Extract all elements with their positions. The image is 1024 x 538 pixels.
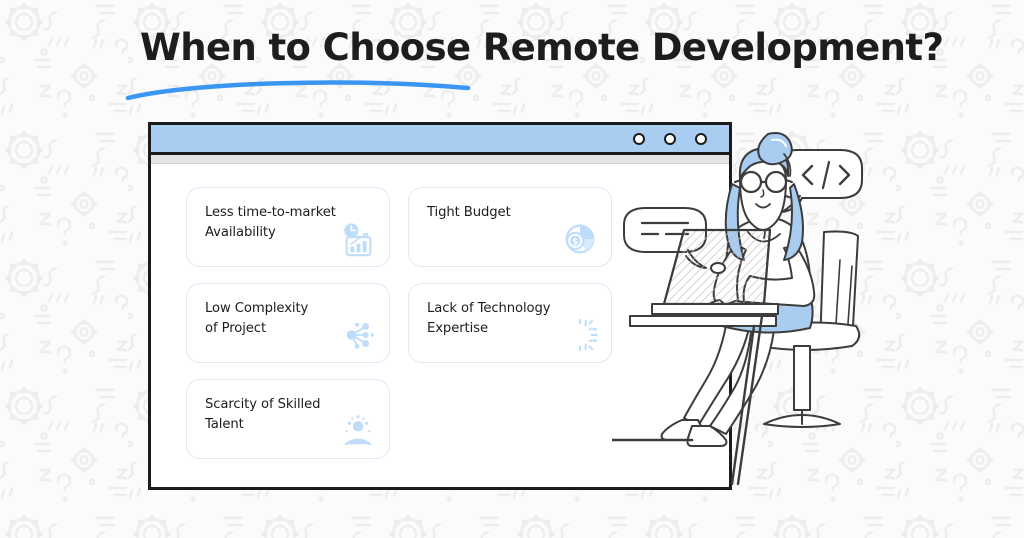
- feature-card-label-line1: Low Complexity: [205, 301, 308, 316]
- feature-card-lack-of-technology-expertise[interactable]: Lack of Technology Expertise: [408, 283, 612, 363]
- svg-text:$: $: [572, 238, 578, 248]
- feature-card-label: Scarcity of Skilled Talent: [205, 395, 355, 434]
- feature-card-grid: Less time-to-market Availability: [186, 187, 612, 459]
- talent-person-icon: [339, 412, 377, 450]
- network-nodes-icon: [339, 316, 377, 354]
- feature-card-label: Less time-to-market Availability: [205, 203, 355, 242]
- feature-card-low-complexity[interactable]: Low Complexity of Project: [186, 283, 390, 363]
- poster-canvas: When to Choose Remote Development? Less …: [0, 0, 1024, 538]
- feature-card-label-line2: Availability: [205, 225, 276, 240]
- feature-card-label-line1: Less time-to-market: [205, 205, 336, 220]
- feature-card-label: Tight Budget: [427, 203, 577, 223]
- feature-card-tight-budget[interactable]: Tight Budget $: [408, 187, 612, 267]
- feature-card-label-line2: of Project: [205, 321, 266, 336]
- window-control-maximize[interactable]: [664, 133, 676, 145]
- window-control-close[interactable]: [695, 133, 707, 145]
- feature-card-label-line1: Lack of Technology: [427, 301, 550, 316]
- feature-card-label-line1: Scarcity of Skilled: [205, 397, 320, 412]
- feature-card-label-line2: Talent: [205, 417, 244, 432]
- dollar-pie-chart-icon: $: [561, 220, 599, 258]
- window-content-area: Less time-to-market Availability: [151, 164, 729, 484]
- feature-card-label-line1: Tight Budget: [427, 205, 511, 220]
- gear-chip-icon: [561, 316, 599, 354]
- window-control-minimize[interactable]: [633, 133, 645, 145]
- page-title: When to Choose Remote Development?: [140, 28, 920, 69]
- clock-bar-chart-icon: [339, 220, 377, 258]
- feature-card-label: Lack of Technology Expertise: [427, 299, 577, 338]
- window-toolbar-strip: [151, 155, 729, 164]
- feature-card-less-time-to-market[interactable]: Less time-to-market Availability: [186, 187, 390, 267]
- title-underline-stroke: [124, 76, 474, 102]
- feature-card-label: Low Complexity of Project: [205, 299, 355, 338]
- feature-card-scarcity-of-skilled-talent[interactable]: Scarcity of Skilled Talent: [186, 379, 390, 459]
- title-block: When to Choose Remote Development?: [140, 28, 920, 69]
- feature-card-label-line2: Expertise: [427, 321, 488, 336]
- browser-window: Less time-to-market Availability: [148, 122, 732, 490]
- window-titlebar: [151, 125, 729, 155]
